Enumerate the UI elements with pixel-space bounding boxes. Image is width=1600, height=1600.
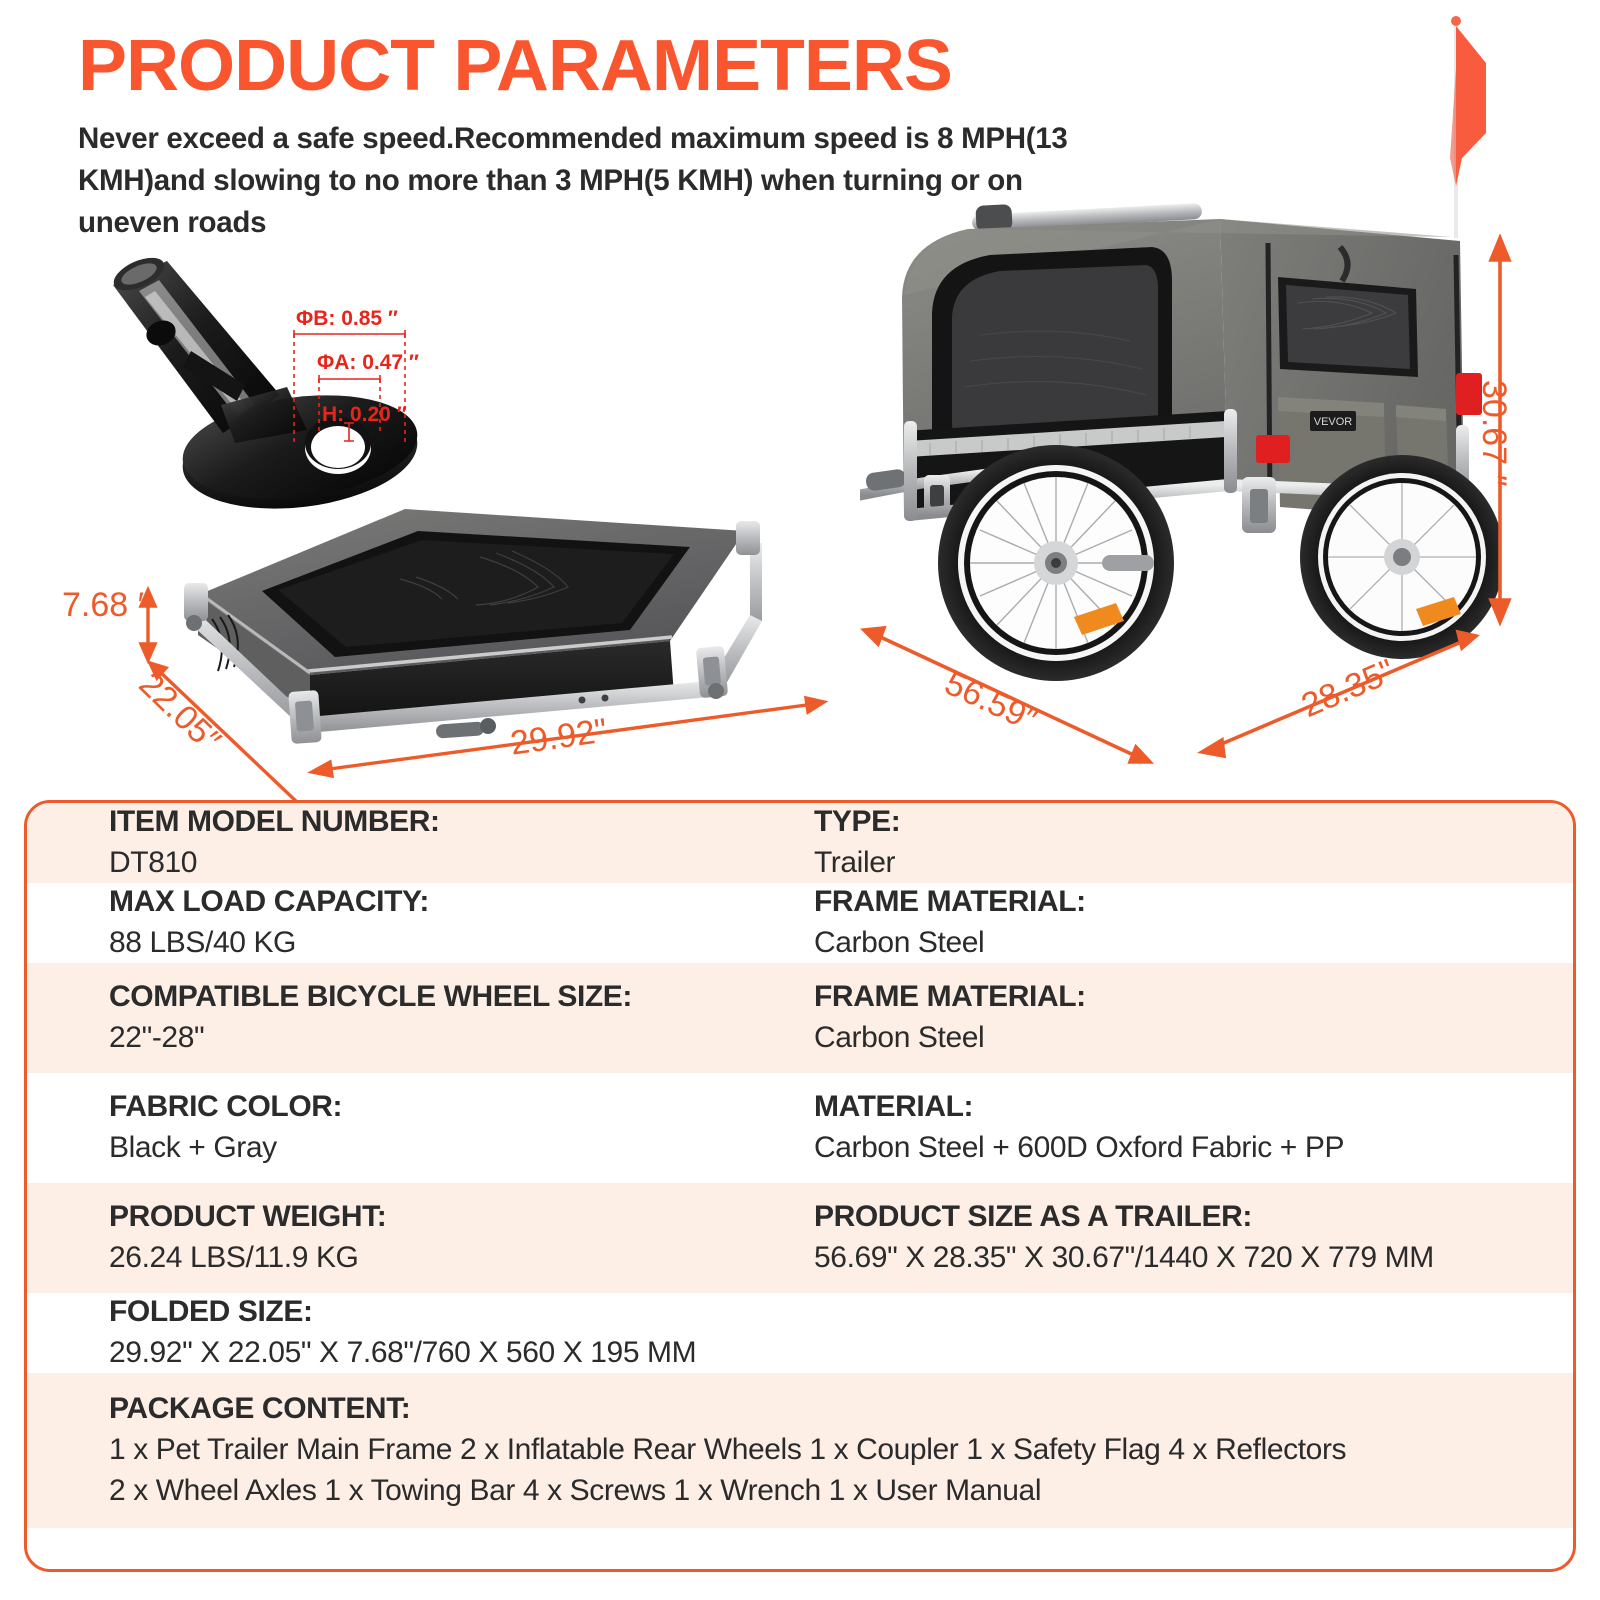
spec-value: 56.69" X 28.35" X 30.67"/1440 X 720 X 77… xyxy=(814,1238,1543,1279)
folded-height-label: 7.68 ″ xyxy=(62,586,150,625)
spec-label: FABRIC COLOR: xyxy=(109,1087,814,1128)
spec-value: Carbon Steel xyxy=(814,923,1543,964)
specifications-table: ITEM MODEL NUMBER: DT810 TYPE: Trailer M… xyxy=(24,800,1576,1572)
spec-value: Trailer xyxy=(814,843,1543,884)
spec-cell-type: TYPE: Trailer xyxy=(814,802,1543,884)
spec-cell-product-size-as-a-trailer: PRODUCT SIZE AS A TRAILER: 56.69" X 28.3… xyxy=(814,1197,1543,1279)
table-row: COMPATIBLE BICYCLE WHEEL SIZE: 22"-28" F… xyxy=(27,963,1573,1073)
spec-value: 29.92" X 22.05" X 7.68"/760 X 560 X 195 … xyxy=(109,1333,1543,1374)
trailer-height-label: 30.67 ″ xyxy=(1474,380,1513,487)
spec-cell-compatible-bicycle-wheel-size: COMPATIBLE BICYCLE WHEEL SIZE: 22"-28" xyxy=(109,977,814,1059)
spec-label: FRAME MATERIAL: xyxy=(814,977,1543,1018)
table-row: PACKAGE CONTENT: 1 x Pet Trailer Main Fr… xyxy=(27,1373,1573,1528)
spec-value: 26.24 LBS/11.9 KG xyxy=(109,1238,814,1279)
spec-label: COMPATIBLE BICYCLE WHEEL SIZE: xyxy=(109,977,814,1018)
spec-value: 88 LBS/40 KG xyxy=(109,923,814,964)
spec-cell-frame-material: FRAME MATERIAL: Carbon Steel xyxy=(814,882,1543,964)
spec-label: PRODUCT WEIGHT: xyxy=(109,1197,814,1238)
spec-cell-max-load-capacity: MAX LOAD CAPACITY: 88 LBS/40 KG xyxy=(109,882,814,964)
spec-label: FRAME MATERIAL: xyxy=(814,882,1543,923)
product-illustrations: ΦB: 0.85 ″ ΦA: 0.47 ″ H: 0.20 ″ xyxy=(0,0,1600,800)
spec-label: MAX LOAD CAPACITY: xyxy=(109,882,814,923)
spec-value: Black + Gray xyxy=(109,1128,814,1169)
spec-cell-item-model-number: ITEM MODEL NUMBER: DT810 xyxy=(109,802,814,884)
spec-value: 22"-28" xyxy=(109,1018,814,1059)
spec-value: Carbon Steel + 600D Oxford Fabric + PP xyxy=(814,1128,1543,1169)
spec-label: MATERIAL: xyxy=(814,1087,1543,1128)
spec-cell-product-weight: PRODUCT WEIGHT: 26.24 LBS/11.9 KG xyxy=(109,1197,814,1279)
spec-cell-folded-size: FOLDED SIZE: 29.92" X 22.05" X 7.68"/760… xyxy=(109,1292,1543,1374)
spec-label: TYPE: xyxy=(814,802,1543,843)
spec-cell-frame-material-2: FRAME MATERIAL: Carbon Steel xyxy=(814,977,1543,1059)
table-row: ITEM MODEL NUMBER: DT810 TYPE: Trailer xyxy=(27,803,1573,883)
table-row: FOLDED SIZE: 29.92" X 22.05" X 7.68"/760… xyxy=(27,1293,1573,1373)
spec-cell-material: MATERIAL: Carbon Steel + 600D Oxford Fab… xyxy=(814,1087,1543,1169)
coupler-image: ΦB: 0.85 ″ ΦA: 0.47 ″ H: 0.20 ″ xyxy=(95,255,445,520)
spec-value: 1 x Pet Trailer Main Frame 2 x Inflatabl… xyxy=(109,1430,1543,1471)
spec-value: DT810 xyxy=(109,843,814,884)
spec-cell-package-content: PACKAGE CONTENT: 1 x Pet Trailer Main Fr… xyxy=(109,1389,1543,1511)
spec-label: ITEM MODEL NUMBER: xyxy=(109,802,814,843)
spec-value-line-2: 2 x Wheel Axles 1 x Towing Bar 4 x Screw… xyxy=(109,1471,1543,1512)
spec-value: Carbon Steel xyxy=(814,1018,1543,1059)
table-row: MAX LOAD CAPACITY: 88 LBS/40 KG FRAME MA… xyxy=(27,883,1573,963)
table-row: PRODUCT WEIGHT: 26.24 LBS/11.9 KG PRODUC… xyxy=(27,1183,1573,1293)
spec-label: PACKAGE CONTENT: xyxy=(109,1389,1543,1430)
spec-label: FOLDED SIZE: xyxy=(109,1292,1543,1333)
spec-label: PRODUCT SIZE AS A TRAILER: xyxy=(814,1197,1543,1238)
table-row: FABRIC COLOR: Black + Gray MATERIAL: Car… xyxy=(27,1073,1573,1183)
spec-cell-fabric-color: FABRIC COLOR: Black + Gray xyxy=(109,1087,814,1169)
